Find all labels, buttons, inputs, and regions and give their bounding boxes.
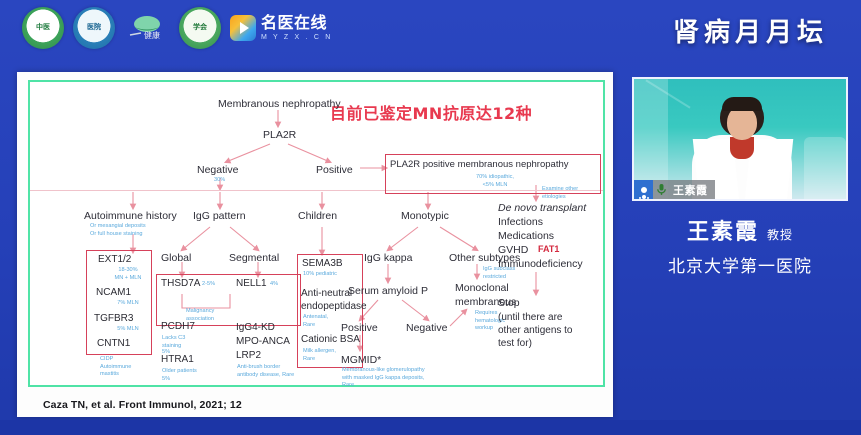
broadcast-stage: 中医 医院 健康 学会 名医在线 M Y Z X . C N 肾病月月坛 [0,0,861,435]
gene-sema3b: SEMA3B [302,258,343,269]
gene-pcdh7: PCDH7 [161,321,195,332]
logo-row: 中医 医院 健康 学会 名医在线 M Y Z X . C N [22,7,333,49]
brand-name: 名医在线 [261,16,333,32]
mn-antigen-flow-diagram: 目前已鉴定MN抗原达12种 Membranous nephropathy PLA… [30,82,603,385]
node-positive: Positive [316,164,353,176]
video-participant-name: 王素霞 [673,182,708,198]
node-gvhd: GVHD [498,244,528,256]
header-bar: 中医 医院 健康 学会 名医在线 M Y Z X . C N 肾病月月坛 [0,0,861,62]
gene-htra1: HTRA1 [161,354,194,365]
gene-cntn1: CNTN1 [97,338,130,349]
gene-thsd7a: THSD7A [161,278,200,289]
node-medications: Medications [498,230,554,242]
video-person-fringe [722,97,762,111]
video-person-collar [730,137,754,159]
person-icon [634,180,653,199]
gene-pcdh7-note: Lacks C3 staining [162,335,210,350]
speaker-organization: 北京大学第一医院 [634,252,846,277]
gene-ext12: EXT1/2 [98,254,131,265]
node-igg-kappa: IgG kappa [364,252,412,264]
gene-lrp2: LRP2 [236,350,261,361]
svg-text:健康: 健康 [144,30,160,40]
logo-institution-1-icon: 中医 [22,7,64,49]
gene-cntn1-note: CIDP Autoimmune mastitis [100,356,154,379]
speaker-info: 王素霞 教授 北京大学第一医院 [634,214,846,277]
microphone-icon[interactable] [653,183,670,196]
brand-logo: 名医在线 M Y Z X . C N [230,15,333,41]
speaker-name: 王素霞 [687,214,759,246]
node-pla2r-positive-note: 70% idiopathic, <5% MLN [450,174,540,189]
node-mgmid: MGMID* [341,354,381,366]
node-sap-positive: Positive [341,322,378,334]
gene-ncam1-note: 7% MLN [101,300,155,308]
node-autoimmune-note: Or mesangial deposits Or full house stai… [90,223,182,238]
node-sap-negative: Negative [406,322,447,334]
gene-htra1-note: Older patients 5% [162,368,220,383]
node-igg-pattern: IgG pattern [193,210,246,222]
speaker-role: 教授 [767,226,793,243]
node-segmental: Segmental [229,252,279,264]
gene-ncam1: NCAM1 [96,287,131,298]
node-mgmid-note: Membranous-like glomerulopathy with mask… [342,367,452,390]
speaker-video-feed[interactable]: 王素霞 [634,79,846,199]
gene-tgfbr3: TGFBR3 [94,313,133,324]
node-pla2r: PLA2R [263,129,296,141]
node-de-novo-transplant: De novo transplant [498,202,586,214]
node-negative-percent: 30% [214,177,225,185]
node-stop: Stop [498,297,520,309]
logo-institution-2-icon: 医院 [73,7,115,49]
node-immunodeficiency: Immunodeficiency [498,258,583,270]
gene-cationic-bsa: Cationic BSA [301,334,360,345]
node-denovo-note: Examine other etiologies [542,186,612,201]
bottom-bar [0,420,861,435]
video-person-face [727,106,757,140]
program-title: 肾病月月坛 [673,12,828,49]
brand-domain: M Y Z X . C N [261,34,333,41]
gene-nell1: NELL1 [236,278,267,289]
node-monotypic: Monotypic [401,210,449,222]
node-children: Children [298,210,337,222]
video-nameplate: 王素霞 [634,180,715,199]
node-fat1: FAT1 [538,244,559,254]
logo-institution-4-icon: 学会 [179,7,221,49]
node-global: Global [161,252,191,264]
gene-lrp2-note: Anti-brush border antibody disease, Rare [237,364,299,379]
gene-igg4-kd: IgG4-KD [236,322,275,333]
node-serum-amyloid-p: Serum amyloid P [348,285,428,297]
play-button-icon [230,15,256,41]
slide-citation: Caza TN, et al. Front Immunol, 2021; 12 [43,399,242,411]
gene-ext12-note: 18-30% MN + MLN [101,267,155,282]
node-pla2r-positive-mn: PLA2R positive membranous nephropathy [390,159,569,170]
node-membranous-nephropathy: Membranous nephropathy [218,98,341,110]
gene-thsd7a-percent: 2-5% [202,281,215,289]
node-negative: Negative [197,164,238,176]
presentation-slide[interactable]: 目前已鉴定MN抗原达12种 Membranous nephropathy PLA… [17,72,613,417]
logo-institution-3-icon: 健康 [124,11,170,45]
node-autoimmune-history: Autoimmune history [84,210,177,222]
slide-content-frame: 目前已鉴定MN抗原达12种 Membranous nephropathy PLA… [28,80,605,387]
gene-tgfbr3-note: 5% MLN [101,326,155,334]
slide-chinese-title: 目前已鉴定MN抗原达12种 [330,100,532,124]
gene-mpo-anca: MPO-ANCA [236,336,290,347]
node-stop-note: (until there are other antigens to test … [498,311,590,350]
gene-nell1-percent: 4% [270,281,278,289]
node-infections: Infections [498,216,543,228]
gene-sema3b-note: 10% pediatric [303,271,337,279]
